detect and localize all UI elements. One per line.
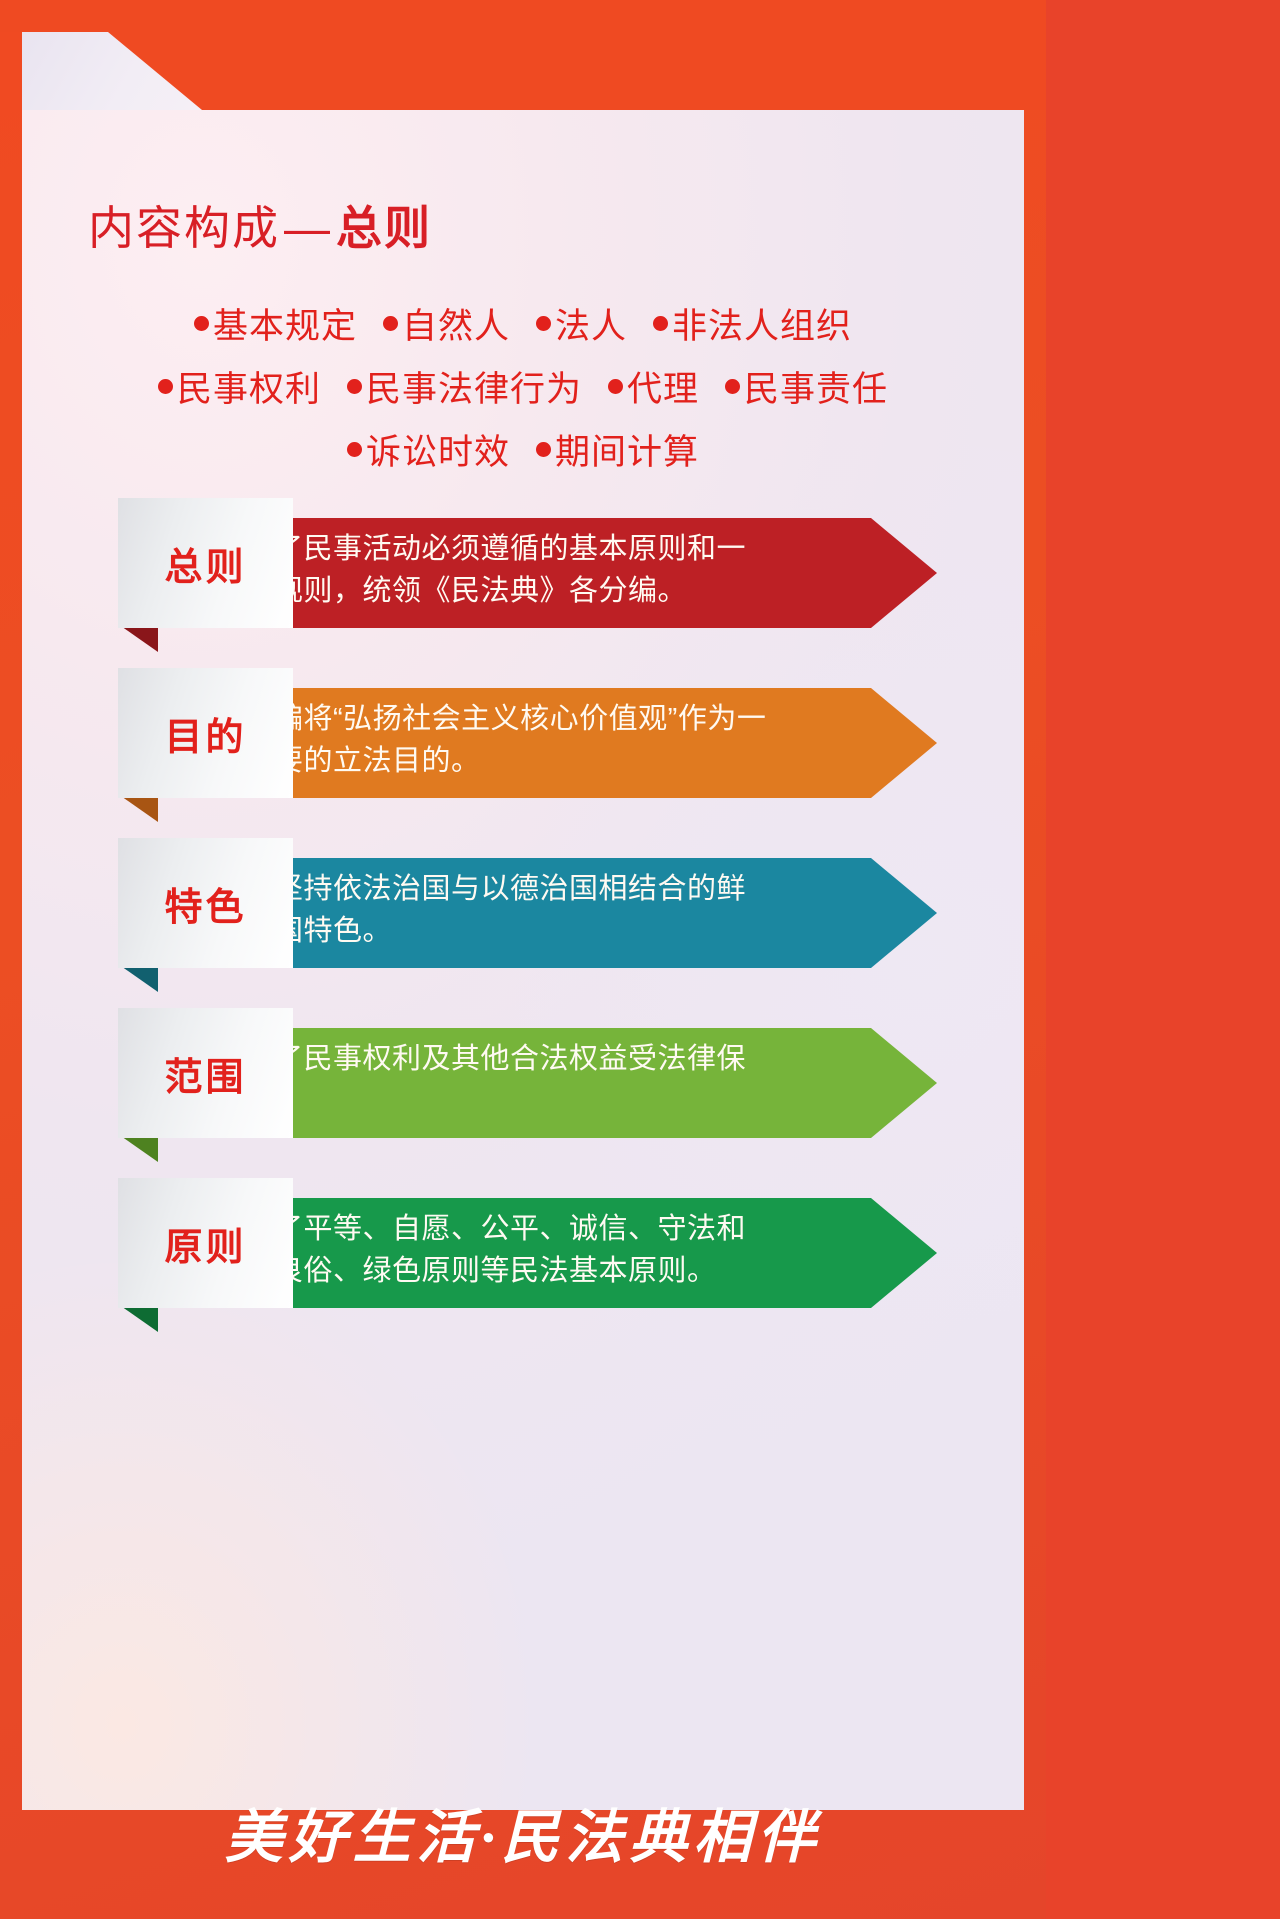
- keyword-item: 民事责任: [725, 361, 888, 412]
- arrow-description: 体现坚持依法治国与以德治国相结合的鲜明中国特色。: [215, 868, 775, 952]
- keyword-item: 民事法律行为: [347, 361, 582, 412]
- keyword-label: 法人: [555, 298, 627, 349]
- keyword-item: 期间计算: [536, 424, 699, 475]
- keyword-item: 自然人: [383, 298, 510, 349]
- arrow-label-box: 特色: [118, 838, 293, 968]
- page-title-prefix: 内容构成: [88, 202, 280, 254]
- arrow-label-box: 目的: [118, 668, 293, 798]
- keyword-row: 基本规定自然人法人非法人组织: [0, 298, 1046, 349]
- keyword-label: 基本规定: [213, 298, 357, 349]
- keyword-label: 自然人: [402, 298, 510, 349]
- footer-banner: 美好生活·民法典相伴: [0, 1744, 1046, 1919]
- arrow-row: 确立了平等、自愿、公平、诚信、守法和公序良俗、绿色原则等民法基本原则。原则: [0, 1178, 1046, 1328]
- arrow-label-box: 总则: [118, 498, 293, 628]
- arrow-label: 原则: [164, 1216, 246, 1271]
- bullet-dot-icon: [536, 316, 551, 331]
- page-title-emphasis: 总则: [336, 202, 432, 254]
- page-title: 内容构成—总则: [88, 192, 432, 258]
- keyword-label: 期间计算: [555, 424, 699, 475]
- keyword-item: 诉讼时效: [347, 424, 510, 475]
- keyword-label: 民事法律行为: [366, 361, 582, 412]
- label-fold-shadow: [118, 794, 158, 822]
- arrow-label: 特色: [164, 876, 246, 931]
- keyword-item: 非法人组织: [653, 298, 852, 349]
- keyword-item: 法人: [536, 298, 627, 349]
- keyword-label: 民事权利: [177, 361, 321, 412]
- keyword-label: 代理: [627, 361, 699, 412]
- arrow-label: 范围: [164, 1046, 246, 1101]
- keyword-list: 基本规定自然人法人非法人组织民事权利民事法律行为代理民事责任诉讼时效期间计算: [0, 298, 1046, 487]
- label-fold-shadow: [118, 964, 158, 992]
- bullet-dot-icon: [194, 316, 209, 331]
- poster-root: 第四个“民法典宣传月”｜2024年5月 内容构成—总则 基本规定自然人法人非法人…: [0, 0, 1046, 1919]
- label-fold-shadow: [118, 1304, 158, 1332]
- bullet-dot-icon: [608, 379, 623, 394]
- keyword-item: 代理: [608, 361, 699, 412]
- arrow-row: 总则编将“弘扬社会主义核心价值观”作为一项重要的立法目的。目的: [0, 668, 1046, 818]
- keyword-item: 民事权利: [158, 361, 321, 412]
- bullet-dot-icon: [347, 442, 362, 457]
- keyword-item: 基本规定: [194, 298, 357, 349]
- arrow-row: 规定了民事活动必须遵循的基本原则和一般性规则，统领《民法典》各分编。总则: [0, 498, 1046, 648]
- bullet-dot-icon: [347, 379, 362, 394]
- keyword-label: 民事责任: [744, 361, 888, 412]
- arrow-label: 目的: [164, 706, 246, 761]
- label-fold-shadow: [118, 624, 158, 652]
- keyword-row: 民事权利民事法律行为代理民事责任: [0, 361, 1046, 412]
- arrow-description: 规定了民事权利及其他合法权益受法律保护。: [215, 1038, 775, 1122]
- arrow-row: 规定了民事权利及其他合法权益受法律保护。范围: [0, 1008, 1046, 1158]
- bullet-dot-icon: [383, 316, 398, 331]
- page-title-dash: —: [280, 202, 336, 254]
- arrow-label-box: 原则: [118, 1178, 293, 1308]
- bullet-dot-icon: [536, 442, 551, 457]
- bullet-dot-icon: [725, 379, 740, 394]
- keyword-label: 诉讼时效: [366, 424, 510, 475]
- arrow-label: 总则: [164, 536, 246, 591]
- label-fold-shadow: [118, 1134, 158, 1162]
- arrow-description: 规定了民事活动必须遵循的基本原则和一般性规则，统领《民法典》各分编。: [215, 528, 775, 612]
- arrow-row: 体现坚持依法治国与以德治国相结合的鲜明中国特色。特色: [0, 838, 1046, 988]
- keyword-label: 非法人组织: [672, 298, 852, 349]
- bullet-dot-icon: [653, 316, 668, 331]
- arrow-description: 总则编将“弘扬社会主义核心价值观”作为一项重要的立法目的。: [215, 698, 775, 782]
- footer-slogan: 美好生活·民法典相伴: [225, 1790, 822, 1874]
- arrow-description: 确立了平等、自愿、公平、诚信、守法和公序良俗、绿色原则等民法基本原则。: [215, 1208, 775, 1292]
- keyword-row: 诉讼时效期间计算: [0, 424, 1046, 475]
- bullet-dot-icon: [158, 379, 173, 394]
- arrow-row-list: 规定了民事活动必须遵循的基本原则和一般性规则，统领《民法典》各分编。总则总则编将…: [0, 498, 1046, 1348]
- arrow-label-box: 范围: [118, 1008, 293, 1138]
